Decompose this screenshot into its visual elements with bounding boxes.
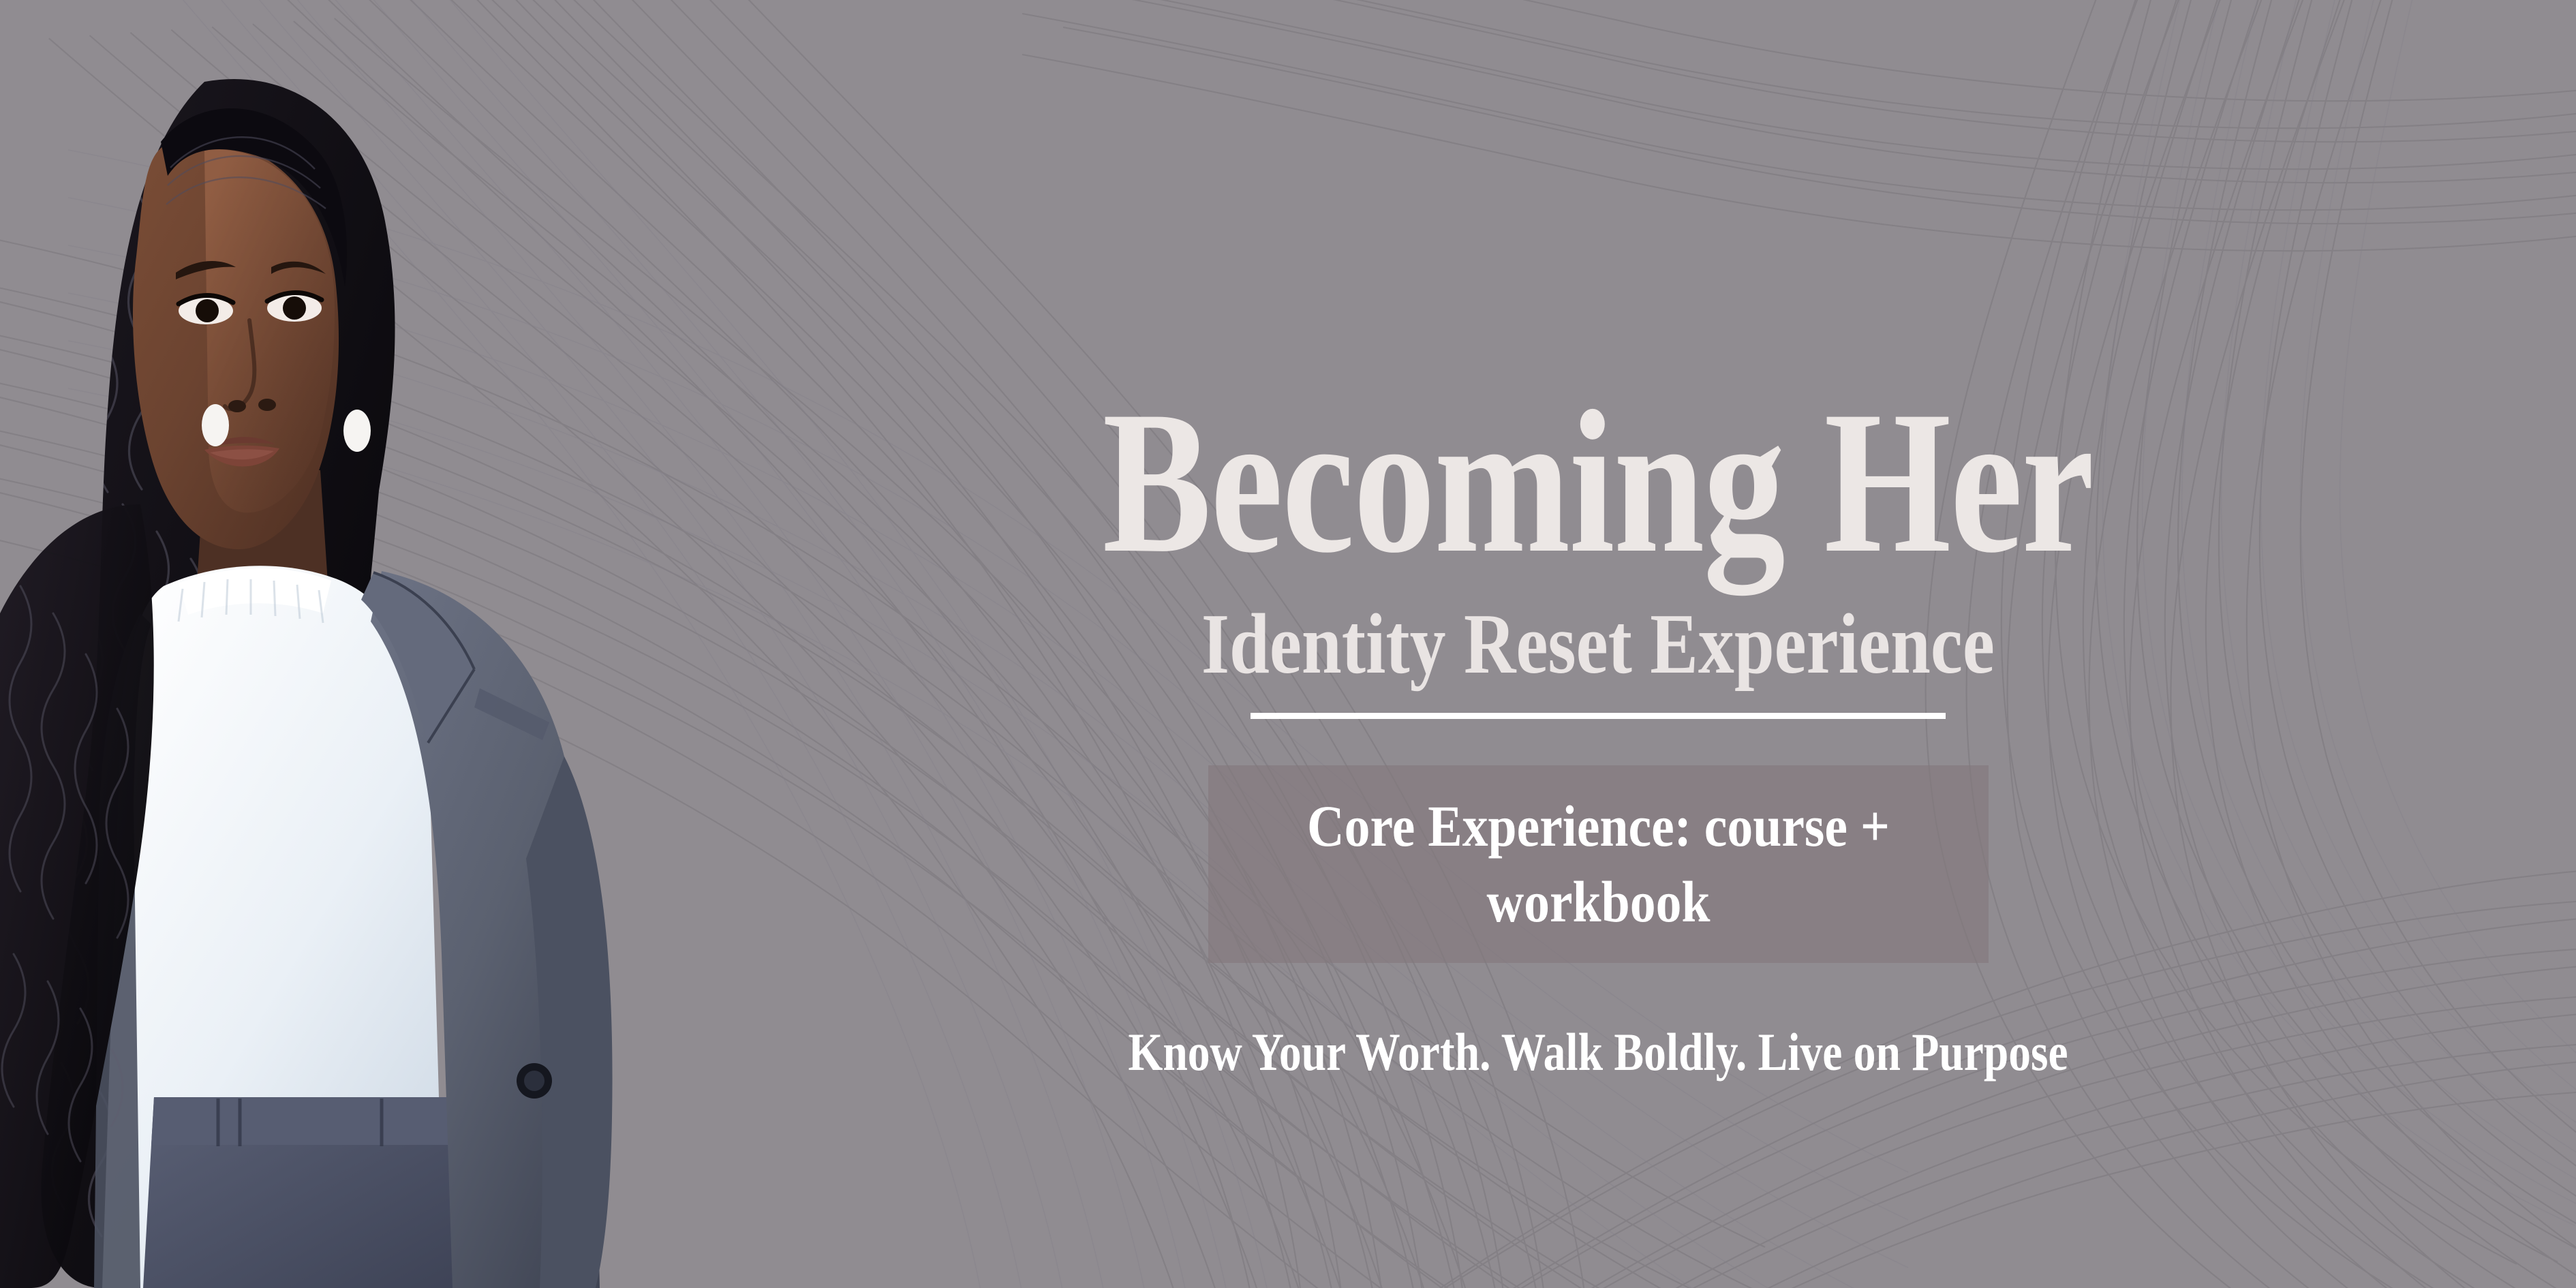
blazer-pocket [474,688,549,740]
tagline: Know Your Worth. Walk Boldly. Live on Pu… [1128,1023,2068,1082]
blazer-button [517,1063,552,1099]
waistband [151,1097,480,1145]
hair-mass [41,79,395,1288]
core-experience-badge: Core Experience: course + workbook [1208,765,1989,963]
core-experience-badge-label: Core Experience: course + workbook [1283,788,1914,941]
trousers [143,1097,485,1288]
blazer-left-panel [94,613,151,1288]
foreground-hair [0,504,154,1288]
text-content-column: Becoming Her Identity Reset Experience C… [848,0,2348,1288]
earring-right [343,410,371,452]
blazer-right-panel [371,571,600,1288]
braided-hairline [161,108,347,286]
blouse [102,566,444,1288]
blazer-sleeve [526,756,613,1288]
face [133,140,339,549]
earring-left [202,404,229,446]
blazer-lapel [361,572,474,743]
portrait-photo [0,0,838,1288]
page-subtitle: Identity Reset Experience [1201,600,1995,690]
title-divider [1251,713,1946,719]
page-title: Becoming Her [1103,382,2094,582]
promotional-banner: Becoming Her Identity Reset Experience C… [0,0,2576,1288]
